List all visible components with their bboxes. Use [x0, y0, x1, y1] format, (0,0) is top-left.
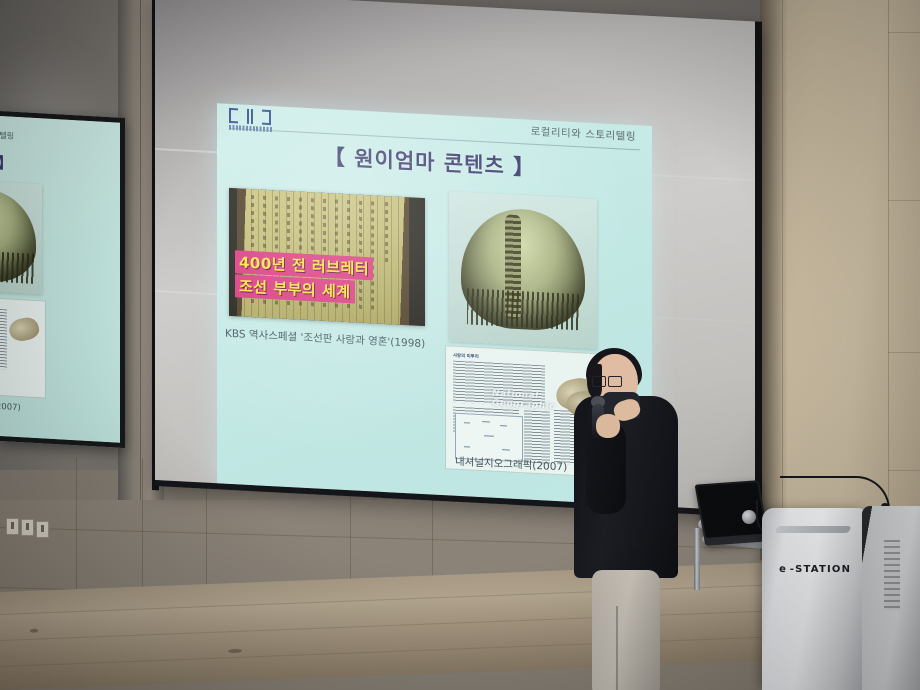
pillar-seam: [140, 0, 141, 500]
power-outlet: [21, 519, 34, 536]
sandal-fringe: [467, 288, 579, 330]
lectern-control-panel[interactable]: [884, 540, 900, 610]
monitor-arm-joint: [742, 510, 756, 524]
lectern-brand-label: e-STATION: [762, 564, 868, 575]
left-screen-title: 마 콘텐츠 】: [0, 148, 13, 174]
power-outlet: [6, 518, 19, 535]
lectern-slot: [775, 526, 852, 533]
trouser-seam: [616, 606, 618, 690]
presenter-trousers: [592, 570, 660, 690]
lectern-brand-mark: e: [778, 563, 787, 575]
monitor-arm-pole: [694, 528, 700, 590]
lectern-brand-text: -STATION: [790, 564, 851, 575]
left-screen-artifact-image: [0, 178, 42, 294]
hemp-sandal-photo: [449, 191, 597, 349]
presenter: [568, 348, 698, 690]
lectern[interactable]: e-STATION: [762, 508, 868, 690]
letter-photo: 400년 전 러브레터 조선 부부의 세계: [229, 188, 425, 326]
power-outlet: [36, 521, 49, 538]
left-screen-magazine-image: [0, 294, 46, 399]
glasses-icon: [592, 376, 622, 386]
left-screen-eyebrow: 로컬리티와 스토리텔링: [0, 127, 14, 142]
left-screen-caption: 내셔널지오그래픽(2007): [0, 396, 21, 413]
slide-eyebrow: 로컬리티와 스토리텔링: [531, 124, 636, 145]
secondary-projection-screen: 로컬리티와 스토리텔링 마 콘텐츠 】 내셔널지오그래픽(2007): [0, 111, 125, 448]
lecture-hall-screenshot: 로컬리티와 스토리텔링 마 콘텐츠 】 내셔널지오그래픽(2007): [0, 0, 920, 690]
left-media-caption: KBS 역사스페셜 '조선판 사랑과 영혼'(1998): [225, 326, 425, 351]
magazine-heading: 사랑의 미투리: [453, 353, 479, 360]
